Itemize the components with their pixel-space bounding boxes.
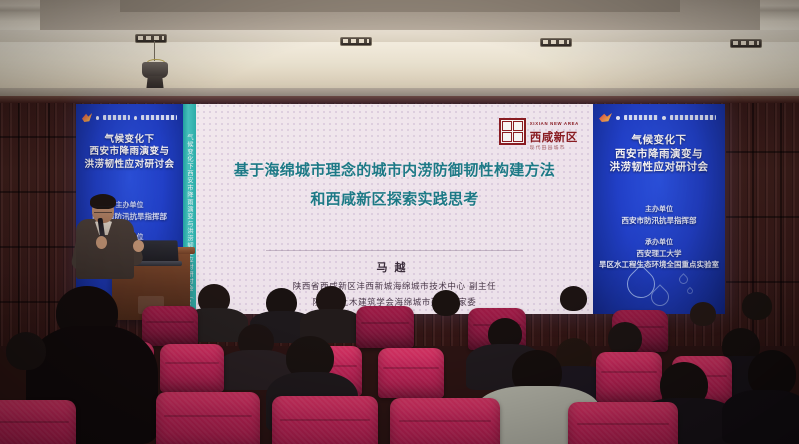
- banner-right-host: 主办单位 西安市防汛抗旱指挥部: [593, 204, 725, 227]
- xixian-logo-chinese: 西咸新区: [530, 130, 578, 144]
- banner-left-title-line1: 气候变化下: [76, 134, 183, 146]
- banner-right-organizer: 承办单位 西安理工大学 旱区水工程生态环境全国重点实验室: [593, 237, 725, 271]
- ceiling-downlight-icon: [730, 39, 762, 48]
- banner-right-logo-row: [599, 113, 719, 122]
- banner-right-title: 气候变化下 西安市降雨演变与 洪涝韧性应对研讨会: [593, 134, 725, 175]
- theater-seat: [142, 306, 198, 346]
- ceiling: [0, 0, 799, 96]
- spotlight-body-icon: [142, 62, 168, 78]
- spotlight-wire: [154, 41, 155, 61]
- wall-top-trim: [0, 96, 799, 103]
- speaker-hand-left: [96, 236, 107, 249]
- org-name-mark: [103, 115, 130, 120]
- banner-left-title: 气候变化下 西安市降雨演变与 洪涝韧性应对研讨会: [76, 134, 183, 171]
- audience-head: [6, 332, 46, 370]
- audience-area: [0, 280, 799, 444]
- theater-seat: [596, 352, 662, 402]
- slide-author: 马越: [196, 259, 593, 275]
- audience-head: [690, 302, 716, 326]
- theater-seat: [568, 402, 678, 444]
- org-dot-icon: [662, 116, 666, 120]
- xixian-logo: XIXIAN NEW AREA 西咸新区 现代田园城市: [499, 113, 579, 150]
- banner-right-organizer-value2: 旱区水工程生态环境全国重点实验室: [593, 260, 725, 271]
- conference-hall-scene: 气候变化下 西安市降雨演变与 洪涝韧性应对研讨会 主办单位 西安市防汛抗旱指挥部…: [0, 0, 799, 444]
- banner-right-organizer-value: 西安理工大学: [593, 249, 725, 260]
- xixian-seal-icon: [499, 118, 526, 145]
- banner-right-organizer-label: 承办单位: [593, 237, 725, 247]
- audience-head: [432, 290, 460, 316]
- banner-right-host-label: 主办单位: [593, 204, 725, 214]
- banner-right-title-line3: 洪涝韧性应对研讨会: [593, 161, 725, 175]
- theater-seat: [356, 306, 414, 348]
- theater-seat: [160, 344, 224, 392]
- slide-title-line2: 和西咸新区探索实践思考: [196, 185, 593, 214]
- theater-seat: [390, 398, 500, 444]
- ceiling-downlight-icon: [340, 37, 372, 46]
- audience-head: [608, 322, 642, 355]
- theater-seat: [0, 400, 76, 444]
- flame-logo-icon: [599, 113, 612, 122]
- ceiling-band: [0, 30, 799, 42]
- speaker-hand-right: [133, 240, 144, 252]
- org-dot-icon: [616, 116, 620, 120]
- org-name-mark: [141, 115, 177, 120]
- banner-left-logo-row: [82, 113, 177, 122]
- theater-seat: [156, 392, 260, 444]
- audience-shoulders: [722, 390, 799, 444]
- ceiling-downlight-icon: [540, 38, 572, 47]
- org-dot-icon: [96, 116, 99, 120]
- banner-right-title-line1: 气候变化下: [593, 134, 725, 148]
- org-name-mark: [670, 115, 716, 120]
- speaker-glasses-icon: [94, 206, 112, 213]
- ceiling-downlight-icon: [135, 34, 167, 43]
- theater-seat: [272, 396, 378, 444]
- audience-head: [560, 286, 587, 311]
- xixian-logo-tagline: 现代田园城市: [530, 146, 579, 150]
- xixian-logo-english: XIXIAN NEW AREA: [530, 121, 579, 126]
- slide-title-line1: 基于海绵城市理念的城市内涝防御韧性构建方法: [196, 156, 593, 185]
- audience-head: [742, 292, 772, 320]
- org-dot-icon: [134, 116, 137, 120]
- banner-left-title-line3: 洪涝韧性应对研讨会: [76, 159, 183, 171]
- banner-right-host-value: 西安市防汛抗旱指挥部: [593, 216, 725, 227]
- slide-title: 基于海绵城市理念的城市内涝防御韧性构建方法 和西咸新区探索实践思考: [196, 156, 593, 215]
- flame-logo-icon: [82, 113, 92, 122]
- theater-seat: [378, 348, 444, 398]
- slide-divider: [266, 250, 523, 251]
- ceiling-recess-inner: [120, 0, 680, 12]
- banner-right-title-line2: 西安市降雨演变与: [593, 148, 725, 162]
- org-name-mark: [624, 115, 658, 120]
- banner-left-title-line2: 西安市降雨演变与: [76, 146, 183, 158]
